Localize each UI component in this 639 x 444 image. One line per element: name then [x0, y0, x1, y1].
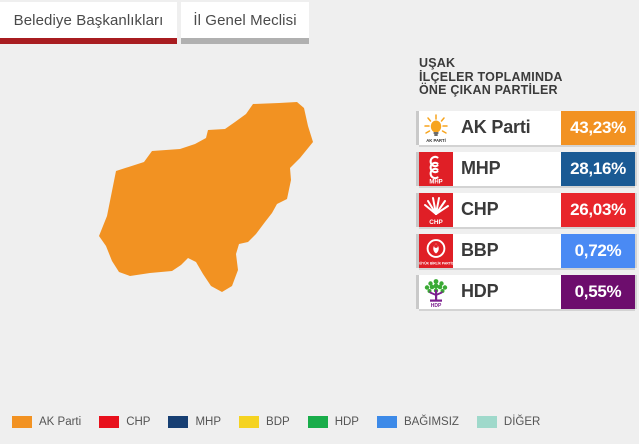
mhp-logo-icon: MHP	[419, 152, 453, 186]
legend-swatch-ak-parti	[12, 416, 32, 428]
legend-swatch-diger	[477, 416, 497, 428]
legend-swatch-chp	[99, 416, 119, 428]
legend-label-mhp: MHP	[195, 416, 221, 428]
tab-il-genel-label: İl Genel Meclisi	[193, 12, 296, 29]
legend-item-hdp: HDP	[308, 416, 359, 428]
party-row-mhp[interactable]: MHP MHP 28,16%	[419, 152, 635, 186]
legend-swatch-bdp	[239, 416, 259, 428]
legend-label-bdp: BDP	[266, 416, 290, 428]
party-name-ak-parti: AK Parti	[453, 111, 561, 145]
party-name-bbp: BBP	[453, 234, 561, 268]
panel-title: UŞAK İLÇELER TOPLAMINDA ÖNE ÇIKAN PARTİL…	[419, 57, 635, 98]
party-percent-ak-parti: 43,23%	[561, 111, 635, 145]
legend-swatch-mhp	[168, 416, 188, 428]
svg-text:BÜYÜK BİRLİK PARTİSİ: BÜYÜK BİRLİK PARTİSİ	[419, 261, 453, 265]
legend-item-mhp: MHP	[168, 416, 221, 428]
panel-title-line-1: UŞAK	[419, 57, 635, 71]
hdp-logo-icon: HDP	[419, 275, 453, 309]
party-name-hdp: HDP	[453, 275, 561, 309]
party-row-ak-parti[interactable]: AK PARTİ AK Parti 43,23%	[419, 111, 635, 145]
party-percent-mhp: 28,16%	[561, 152, 635, 186]
legend-label-ak-parti: AK Parti	[39, 416, 81, 428]
party-name-mhp: MHP	[453, 152, 561, 186]
legend-label-diger: DİĞER	[504, 416, 540, 428]
legend-swatch-bagimsiz	[377, 416, 397, 428]
chp-logo-icon: CHP	[419, 193, 453, 227]
tab-bar: Belediye Başkanlıkları İl Genel Meclisi	[0, 0, 639, 44]
usak-map-svg[interactable]	[0, 46, 410, 396]
svg-text:CHP: CHP	[429, 219, 443, 226]
panel-title-line-3: ÖNE ÇIKAN PARTİLER	[419, 84, 635, 98]
legend-item-chp: CHP	[99, 416, 150, 428]
tab-belediye-baskanliklari[interactable]: Belediye Başkanlıkları	[0, 2, 177, 38]
legend-item-bdp: BDP	[239, 416, 290, 428]
legend-item-bagimsiz: BAĞIMSIZ	[377, 416, 459, 428]
svg-text:MHP: MHP	[429, 179, 442, 185]
legend-item-ak-parti: AK Parti	[12, 416, 81, 428]
legend-label-bagimsiz: BAĞIMSIZ	[404, 416, 459, 428]
panel-title-line-2: İLÇELER TOPLAMINDA	[419, 71, 635, 85]
party-row-hdp[interactable]: HDP HDP 0,55%	[419, 275, 635, 309]
party-percent-chp: 26,03%	[561, 193, 635, 227]
legend-label-chp: CHP	[126, 416, 150, 428]
tab-belediye-label: Belediye Başkanlıkları	[14, 12, 164, 29]
map-legend: AK Parti CHP MHP BDP HDP BAĞIMSIZ DİĞER	[12, 416, 558, 428]
tab-active-underline	[0, 38, 177, 44]
map-area	[0, 46, 410, 396]
party-row-bbp[interactable]: BÜYÜK BİRLİK PARTİSİ BBP 0,72%	[419, 234, 635, 268]
party-row-chp[interactable]: CHP CHP 26,03%	[419, 193, 635, 227]
legend-item-diger: DİĞER	[477, 416, 540, 428]
legend-label-hdp: HDP	[335, 416, 359, 428]
map-region-usak[interactable]	[99, 102, 313, 292]
akparti-logo-icon: AK PARTİ	[419, 111, 453, 145]
tab-inactive-underline	[181, 38, 309, 44]
legend-swatch-hdp	[308, 416, 328, 428]
tab-il-genel-meclisi[interactable]: İl Genel Meclisi	[181, 2, 309, 38]
party-name-chp: CHP	[453, 193, 561, 227]
bbp-logo-icon: BÜYÜK BİRLİK PARTİSİ	[419, 234, 453, 268]
svg-text:AK PARTİ: AK PARTİ	[426, 138, 445, 143]
party-percent-bbp: 0,72%	[561, 234, 635, 268]
party-percent-hdp: 0,55%	[561, 275, 635, 309]
svg-text:HDP: HDP	[431, 303, 442, 309]
results-panel: UŞAK İLÇELER TOPLAMINDA ÖNE ÇIKAN PARTİL…	[419, 57, 635, 316]
